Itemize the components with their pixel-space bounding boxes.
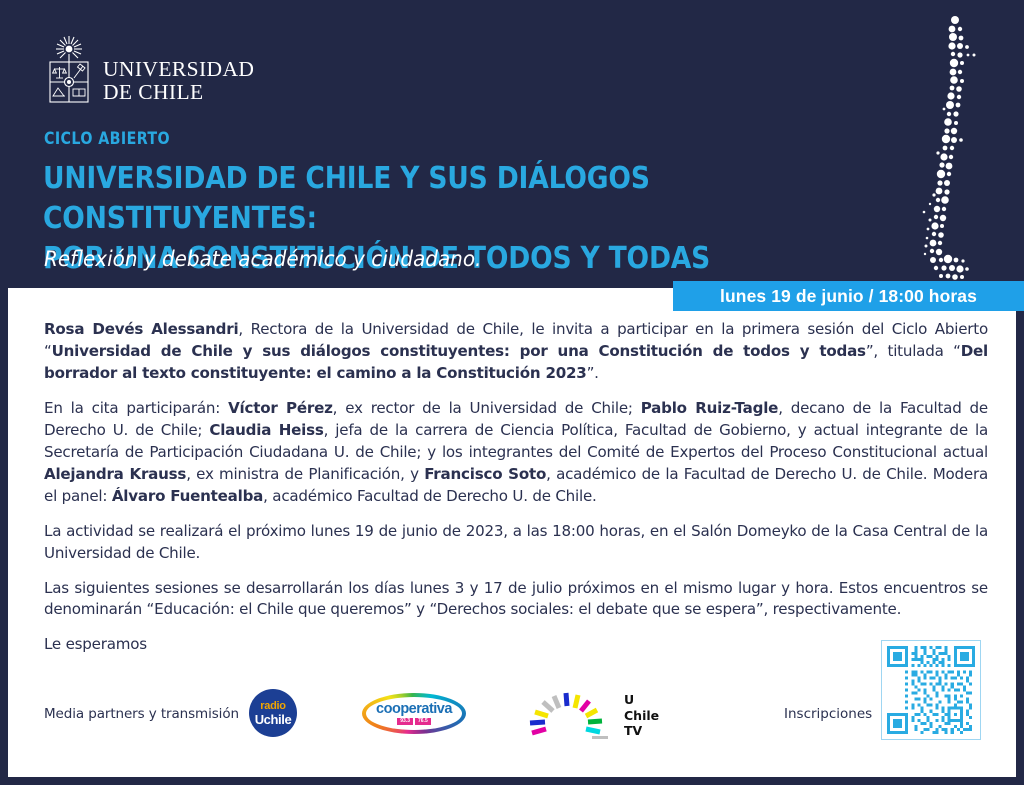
- paragraph-next-sessions: Las siguientes sesiones se desarrollarán…: [44, 578, 988, 622]
- paragraph-closing: Le esperamos: [44, 634, 988, 656]
- poster-header: UNIVERSIDAD DE CHILE CICLO ABIERTO UNIVE…: [0, 0, 1024, 290]
- name-alvaro-fuentealba: Álvaro Fuentealba: [112, 487, 263, 505]
- u-chile-tv-wordmark: U Chile TV: [624, 692, 659, 739]
- name-rosa-deves: Rosa Devés Alessandri: [44, 320, 238, 338]
- text-segment: En la cita participarán:: [44, 399, 228, 417]
- cycle-title-bold: Universidad de Chile y sus diálogos cons…: [52, 342, 866, 360]
- poster-root: UNIVERSIDAD DE CHILE CICLO ABIERTO UNIVE…: [0, 0, 1024, 785]
- cooperativa-dial: 93.3 76.5: [397, 718, 430, 725]
- u-chile-tv-rays-icon: [524, 687, 616, 739]
- name-francisco-soto: Francisco Soto: [424, 465, 546, 483]
- cooperativa-inner: cooperativa 93.3 76.5: [366, 697, 462, 730]
- body-panel: Rosa Devés Alessandri, Rectora de la Uni…: [8, 288, 1016, 777]
- text-segment: , académico Facultad de Derecho U. de Ch…: [263, 487, 596, 505]
- dotted-chile-map: [908, 14, 998, 286]
- text-segment: ”.: [587, 364, 599, 382]
- poster-footer: Media partners y transmisión radio Uchil…: [44, 683, 994, 773]
- text-segment: , ex ministra de Planificación, y: [186, 465, 424, 483]
- text-segment: , ex rector de la Universidad de Chile;: [333, 399, 641, 417]
- radio-uchile-bottom-text: Uchile: [255, 713, 292, 726]
- radio-uchile-logo[interactable]: radio Uchile: [249, 689, 297, 737]
- qr-code[interactable]: [881, 640, 981, 740]
- cooperativa-logo[interactable]: cooperativa 93.3 76.5: [362, 693, 466, 734]
- page-subtitle: Reflexión y debate académico y ciudadano…: [44, 247, 481, 271]
- name-claudia-heiss: Claudia Heiss: [209, 421, 323, 439]
- body-content: Rosa Devés Alessandri, Rectora de la Uni…: [44, 319, 988, 669]
- bottom-strip: [0, 777, 1024, 785]
- university-wordmark: UNIVERSIDAD DE CHILE: [103, 58, 254, 106]
- kicker-ciclo-abierto: CICLO ABIERTO: [44, 129, 170, 149]
- paragraph-invitation: Rosa Devés Alessandri, Rectora de la Uni…: [44, 319, 988, 385]
- universidad-de-chile-crest-icon: [44, 34, 94, 106]
- radio-uchile-top-text: radio: [260, 701, 285, 712]
- media-partners-label: Media partners y transmisión: [44, 706, 239, 722]
- text-segment: ”, titulada “: [866, 342, 961, 360]
- name-alejandra-krauss: Alejandra Krauss: [44, 465, 186, 483]
- name-victor-perez: Víctor Pérez: [228, 399, 333, 417]
- cooperativa-wordmark: cooperativa: [376, 702, 452, 717]
- paragraph-participants: En la cita participarán: Víctor Pérez, e…: [44, 398, 988, 508]
- university-logo: UNIVERSIDAD DE CHILE: [44, 34, 254, 106]
- name-pablo-ruiz-tagle: Pablo Ruiz-Tagle: [641, 399, 778, 417]
- cooperativa-dial-right: 76.5: [415, 718, 431, 725]
- paragraph-logistics: La actividad se realizará el próximo lun…: [44, 521, 988, 565]
- inscriptions-label: Inscripciones: [784, 706, 872, 722]
- cooperativa-dial-left: 93.3: [397, 718, 413, 725]
- date-banner: lunes 19 de junio / 18:00 horas: [673, 281, 1024, 311]
- u-chile-tv-logo[interactable]: U Chile TV: [524, 687, 694, 743]
